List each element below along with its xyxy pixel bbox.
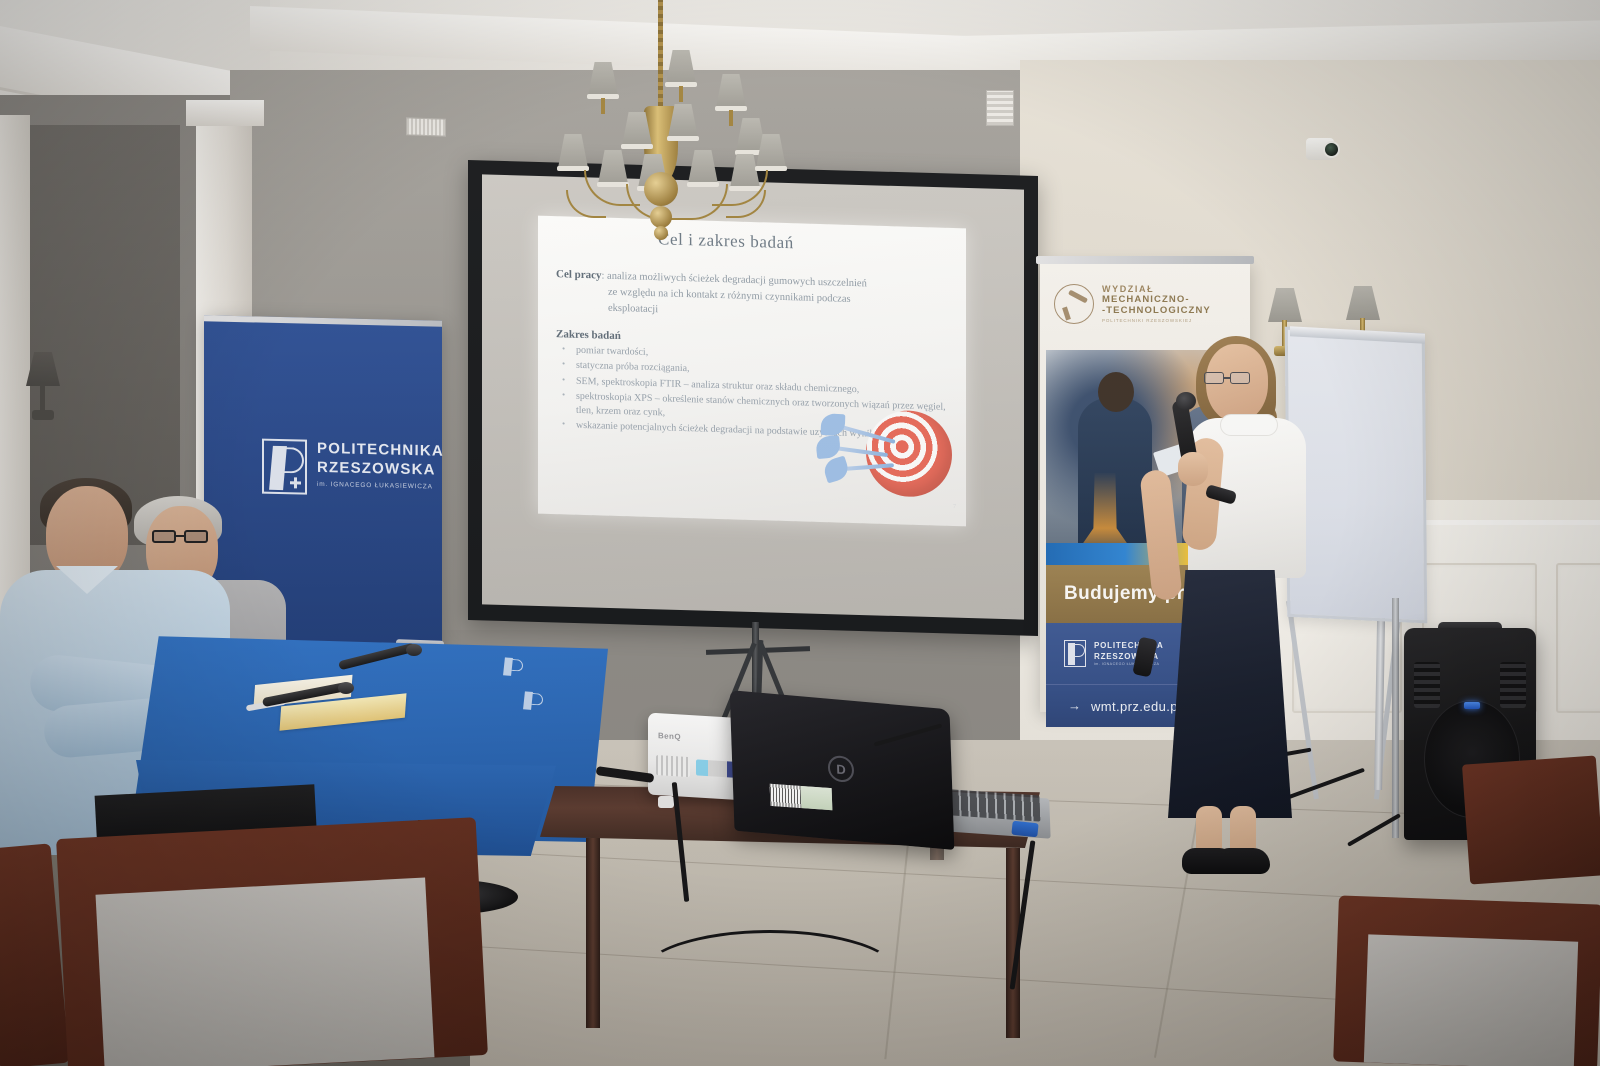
- pr-cross-icon: [290, 477, 301, 488]
- lamp-stem: [729, 110, 733, 126]
- chair-upholstery: [1364, 934, 1578, 1066]
- pr-monogram-icon: [262, 439, 307, 495]
- lampshade-ring: [667, 136, 699, 141]
- arrow-right-icon: →: [1068, 698, 1081, 714]
- wmt-header: WYDZIAŁ MECHANICZNO- -TECHNOLOGICZNY POL…: [1054, 284, 1211, 324]
- banner-left-line1: POLITECHNIKA: [317, 440, 444, 462]
- lampshade: [716, 74, 746, 108]
- sconce-base: [32, 410, 54, 420]
- presentation-slide: Cel i zakres badań Cel pracy: analiza mo…: [538, 216, 966, 527]
- photo-person-man-head: [1098, 372, 1134, 412]
- speaker-vent: [1500, 662, 1526, 708]
- banner-right-logo-line3: im. IGNACEGO ŁUKASIEWICZA: [1094, 662, 1164, 666]
- chandelier-arm: [726, 190, 766, 218]
- flipchart-board: [1285, 327, 1428, 624]
- eyeglasses-icon: [152, 530, 208, 544]
- chandelier-chain: [658, 0, 663, 114]
- security-camera-icon: [1306, 138, 1334, 160]
- slide-goal-label: Cel pracy: [556, 268, 602, 281]
- pr-logo: POLITECHNIKA RZESZOWSKA im. IGNACEGO ŁUK…: [262, 439, 444, 498]
- chandelier-brass-ball: [654, 226, 668, 240]
- lens: [1204, 372, 1224, 384]
- lamp-stem: [601, 98, 605, 114]
- dell-laptop[interactable]: D: [730, 690, 955, 850]
- vga-cable-plug[interactable]: [1011, 821, 1038, 838]
- pr-monogram-icon: [500, 655, 526, 679]
- speaker-stand-pole: [1392, 598, 1399, 838]
- wmt-line4: POLITECHNIKI RZESZOWSKIEJ: [1102, 318, 1211, 323]
- lampshade-ring: [621, 144, 653, 149]
- lampshade: [558, 134, 588, 168]
- pilaster-capital: [186, 100, 264, 126]
- lampshade: [588, 62, 618, 96]
- air-vent-grille: [406, 117, 446, 136]
- slide-page-number: 7: [953, 504, 956, 510]
- air-vent-grille: [986, 90, 1014, 126]
- barcode-icon: [770, 784, 802, 808]
- wmt-line3: -TECHNOLOGICZNY: [1102, 305, 1211, 316]
- speaker-vent: [1414, 662, 1440, 708]
- eyeglasses-icon: [1204, 372, 1250, 385]
- shoe: [1216, 848, 1270, 874]
- bridge: [176, 535, 184, 537]
- dart-fin: [821, 456, 851, 484]
- pr-monogram-icon: [520, 689, 546, 713]
- microphone-capsule: [406, 644, 422, 656]
- lens: [184, 530, 208, 543]
- robot-arm-circle-icon: [1054, 284, 1094, 324]
- chandelier-brass-ball: [644, 172, 678, 206]
- banner-left-line3: im. IGNACEGO ŁUKASIEWICZA: [317, 480, 444, 490]
- floor-cable: [640, 930, 900, 1020]
- wmt-line2: MECHANICZNO-: [1102, 294, 1211, 305]
- microphone-capsule: [1176, 392, 1196, 410]
- microphone-capsule: [338, 682, 354, 694]
- speaker-power-led: [1464, 702, 1480, 709]
- dart-fin: [821, 413, 846, 437]
- laptop-asset-sticker: [770, 784, 833, 810]
- label-icon: [801, 786, 833, 810]
- wooden-chair-armrest[interactable]: [1462, 755, 1600, 884]
- banner-left-line2: RZESZOWSKA: [317, 459, 444, 481]
- sconce-shade: [1268, 288, 1302, 322]
- projector-foot: [658, 796, 674, 808]
- lens: [1230, 372, 1250, 384]
- dell-logo-icon: D: [828, 755, 855, 783]
- chair-upholstery: [96, 877, 435, 1066]
- projector-brand-label: BenQ: [658, 731, 681, 741]
- wmt-line1: WYDZIAŁ: [1102, 284, 1211, 294]
- banner-top-rail: [1036, 256, 1254, 264]
- lamp-stem: [679, 86, 683, 102]
- table-leg: [586, 838, 600, 1028]
- blouse-collar: [1220, 414, 1278, 436]
- lens: [152, 530, 176, 543]
- hand-holding-microphone: [1178, 452, 1208, 486]
- dartboard-graphic: [826, 400, 956, 504]
- chandelier-arm: [566, 190, 606, 218]
- projector-vent: [656, 755, 690, 777]
- banner-url-text: wmt.prz.edu.pl: [1091, 699, 1181, 714]
- pr-monogram-icon: [1064, 640, 1086, 667]
- wainscot-panel: [1556, 563, 1600, 713]
- brass-chandelier: [540, 0, 790, 254]
- lampshade: [666, 50, 696, 84]
- sconce-shade: [1346, 286, 1380, 320]
- conference-room-photo: Cel i zakres badań Cel pracy: analiza mo…: [0, 0, 1600, 1066]
- sconce-shade: [26, 352, 60, 386]
- navy-skirt: [1168, 570, 1292, 818]
- chandelier-brass-ball: [650, 206, 672, 228]
- wall-sconce: [24, 352, 64, 422]
- camera-lens: [1323, 141, 1340, 158]
- slide-goal-paragraph: Cel pracy: analiza możliwych ścieżek deg…: [556, 266, 946, 326]
